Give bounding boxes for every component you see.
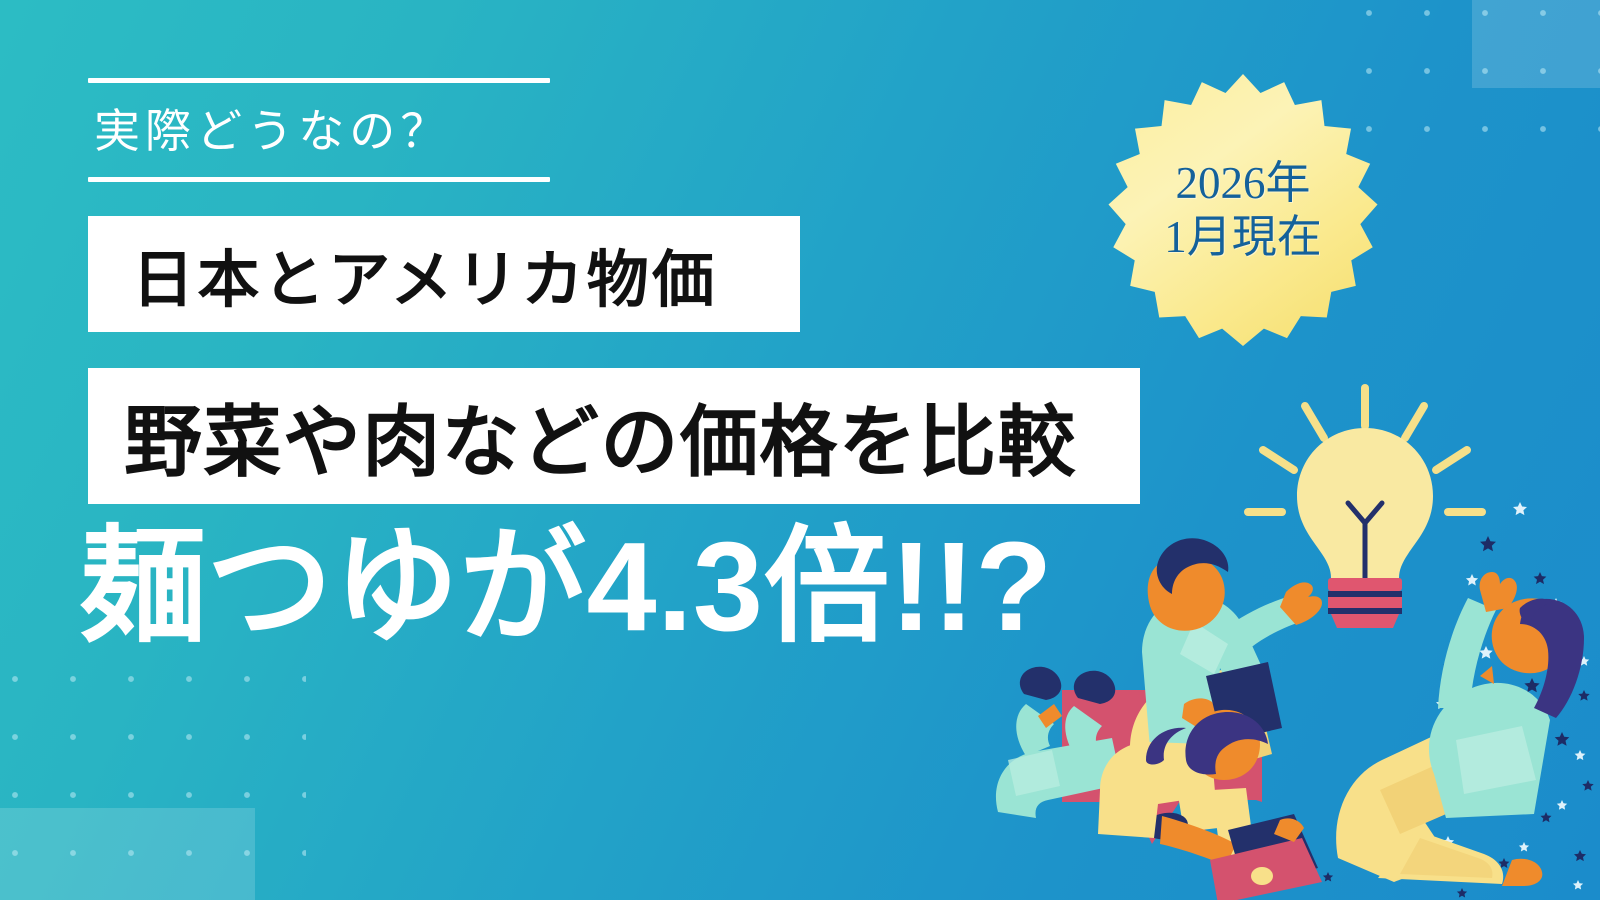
date-badge: 2026年 1月現在 (1102, 74, 1384, 346)
dot-grid-bottom-left (0, 650, 306, 900)
kicker-box-1: 日本とアメリカ物価 (88, 216, 800, 332)
illustration-svg (980, 360, 1600, 900)
kicker-text-2: 野菜や肉などの価格を比較 (88, 380, 1077, 492)
corner-panel-top-right (1472, 0, 1600, 88)
eyebrow-block: 実際どうなの？ (88, 78, 550, 182)
date-badge-line-2: 1月現在 (1164, 212, 1322, 262)
illustration-people-with-lightbulb (980, 360, 1600, 900)
eyebrow-text: 実際どうなの？ (88, 83, 550, 177)
eyebrow-rule-bottom (88, 177, 550, 182)
headline-text: 麺つゆが4.3倍!!? (80, 524, 1053, 650)
corner-panel-bottom-left (0, 808, 255, 900)
poster-canvas: 実際どうなの？ 日本とアメリカ物価 野菜や肉などの価格を比較 麺つゆが4.3倍!… (0, 0, 1600, 900)
kicker-text-1: 日本とアメリカ物価 (88, 229, 718, 319)
date-badge-line-1: 2026年 (1175, 158, 1310, 208)
date-badge-text: 2026年 1月現在 (1102, 74, 1384, 346)
